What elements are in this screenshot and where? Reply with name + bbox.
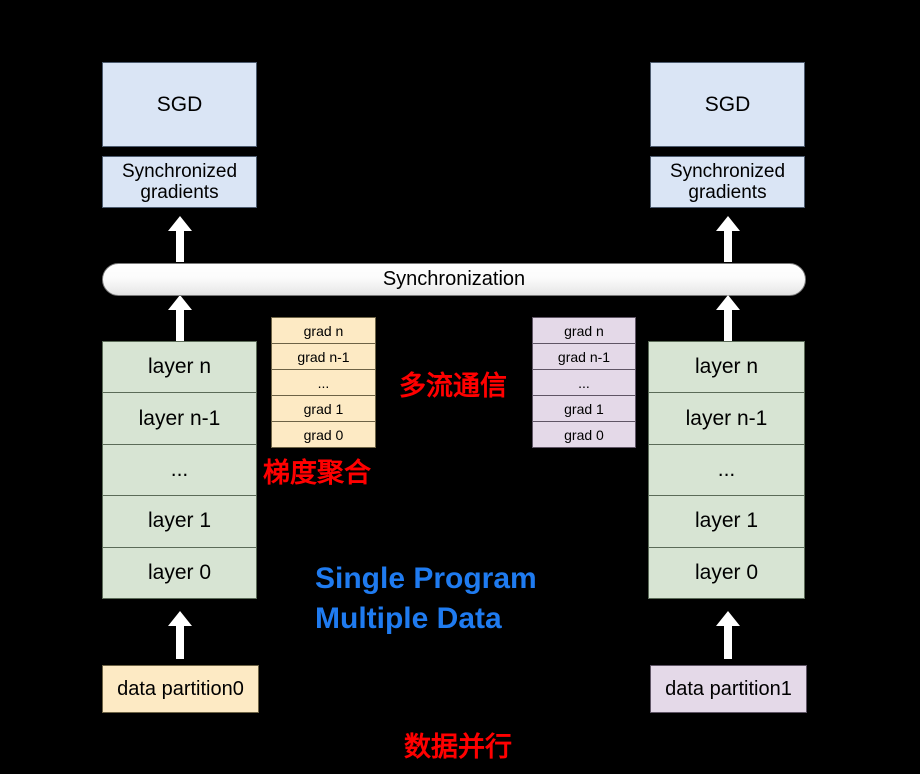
layer-label: layer n-1: [686, 407, 768, 431]
layer-cell[interactable]: layer n-1: [102, 392, 257, 443]
grad-cell[interactable]: grad 0: [271, 421, 376, 448]
synchronized-gradients-line2-worker1: gradients: [688, 182, 766, 203]
annotation-spmd: Single Program Multiple Data: [315, 559, 537, 638]
grad-cell[interactable]: ...: [271, 369, 376, 395]
grad-cell[interactable]: grad 1: [271, 395, 376, 421]
sgd-label-worker0: SGD: [157, 93, 203, 117]
annotation-spmd-line2: Multiple Data: [315, 599, 537, 639]
arrow-up-partition-to-layers-worker0: [165, 611, 195, 659]
grad-label: grad n-1: [558, 349, 610, 365]
data-partition-box-worker0[interactable]: data partition0: [102, 665, 259, 713]
layer-label: layer 1: [695, 509, 758, 533]
layer-label: layer n: [148, 355, 211, 379]
arrow-up-layers-to-sync-worker1: [713, 295, 743, 341]
grad-cell[interactable]: grad 0: [532, 421, 636, 448]
synchronization-label: Synchronization: [383, 268, 525, 291]
grad-cell[interactable]: grad n: [532, 317, 636, 343]
diagram-canvas: SGD Synchronized gradients layer n layer…: [0, 0, 920, 774]
sgd-box-worker0[interactable]: SGD: [102, 62, 257, 147]
layer-label: layer 0: [695, 561, 758, 585]
layer-label: ...: [718, 458, 736, 482]
layer-cell[interactable]: layer 1: [648, 495, 805, 546]
layer-cell[interactable]: layer n-1: [648, 392, 805, 443]
layer-label: layer n: [695, 355, 758, 379]
grad-cell[interactable]: grad 1: [532, 395, 636, 421]
synchronized-gradients-box-worker1[interactable]: Synchronized gradients: [650, 156, 805, 208]
grad-label: grad n-1: [297, 349, 349, 365]
arrow-up-sync-to-gradients-worker1: [713, 216, 743, 262]
sgd-label-worker1: SGD: [705, 93, 751, 117]
annotation-gradient-aggregation: 梯度聚合: [263, 451, 371, 490]
grad-cell[interactable]: grad n-1: [532, 343, 636, 369]
layer-cell[interactable]: ...: [648, 444, 805, 495]
grad-label: grad 1: [304, 401, 344, 417]
layer-cell[interactable]: layer 0: [102, 547, 257, 599]
annotation-spmd-line1: Single Program: [315, 559, 537, 599]
grad-stack-worker0: grad n grad n-1 ... grad 1 grad 0: [271, 317, 376, 448]
layer-label: layer 0: [148, 561, 211, 585]
grad-stack-worker1: grad n grad n-1 ... grad 1 grad 0: [532, 317, 636, 448]
layer-cell[interactable]: layer 1: [102, 495, 257, 546]
layer-cell[interactable]: layer 0: [648, 547, 805, 599]
arrow-up-partition-to-layers-worker1: [713, 611, 743, 659]
grad-cell[interactable]: ...: [532, 369, 636, 395]
layer-cell[interactable]: ...: [102, 444, 257, 495]
grad-label: grad 0: [304, 427, 344, 443]
annotation-data-parallel: 数据并行: [404, 725, 512, 764]
synchronized-gradients-line1-worker1: Synchronized: [670, 161, 785, 182]
synchronized-gradients-line2-worker0: gradients: [140, 182, 218, 203]
grad-cell[interactable]: grad n-1: [271, 343, 376, 369]
synchronized-gradients-box-worker0[interactable]: Synchronized gradients: [102, 156, 257, 208]
sgd-box-worker1[interactable]: SGD: [650, 62, 805, 147]
grad-cell[interactable]: grad n: [271, 317, 376, 343]
arrow-up-sync-to-gradients-worker0: [165, 216, 195, 262]
grad-label: grad 1: [564, 401, 604, 417]
layer-label: layer 1: [148, 509, 211, 533]
synchronized-gradients-line1-worker0: Synchronized: [122, 161, 237, 182]
data-partition-label-worker1: data partition1: [665, 678, 792, 701]
grad-label: grad n: [564, 323, 604, 339]
layer-cell[interactable]: layer n: [648, 341, 805, 392]
grad-label: ...: [578, 375, 590, 391]
annotation-multi-stream-communication: 多流通信: [399, 364, 507, 403]
layer-label: ...: [171, 458, 189, 482]
grad-label: grad n: [304, 323, 344, 339]
data-partition-label-worker0: data partition0: [117, 678, 244, 701]
grad-label: grad 0: [564, 427, 604, 443]
layer-stack-worker0: layer n layer n-1 ... layer 1 layer 0: [102, 341, 257, 599]
layer-label: layer n-1: [139, 407, 221, 431]
grad-label: ...: [318, 375, 330, 391]
layer-stack-worker1: layer n layer n-1 ... layer 1 layer 0: [648, 341, 805, 599]
layer-cell[interactable]: layer n: [102, 341, 257, 392]
synchronization-bar[interactable]: Synchronization: [102, 263, 806, 296]
arrow-up-layers-to-sync-worker0: [165, 295, 195, 341]
data-partition-box-worker1[interactable]: data partition1: [650, 665, 807, 713]
